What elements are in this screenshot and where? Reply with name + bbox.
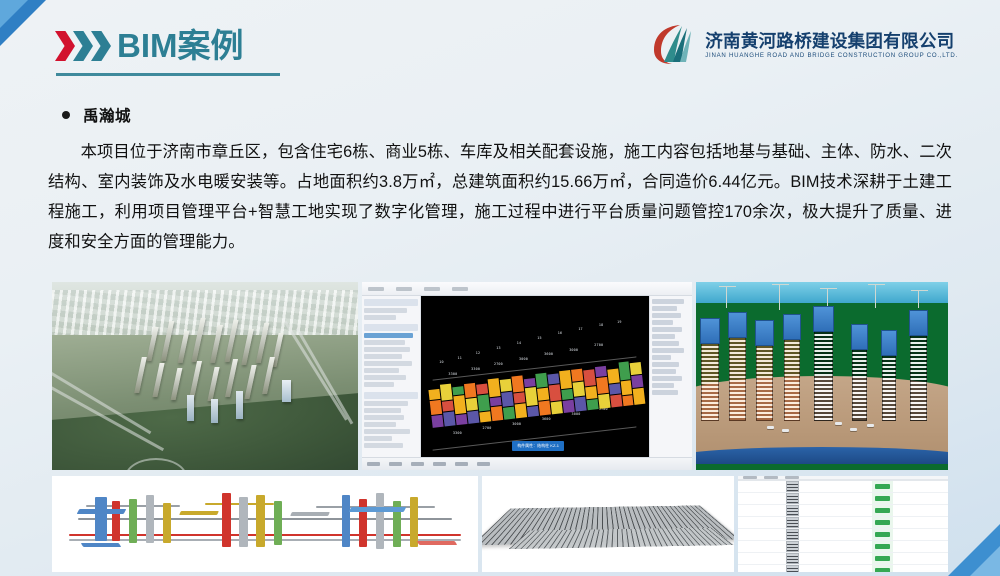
gallery-row-bottom: [52, 476, 948, 572]
bim-3d-viewport[interactable]: 10 11 12 13 14 15 16 17 18 19 3300 3300 …: [421, 296, 649, 457]
aerial-rendering-image: [52, 282, 358, 470]
status-badge: [875, 556, 890, 561]
table-row[interactable]: [738, 553, 948, 565]
bim-right-panel[interactable]: [649, 296, 692, 457]
project-description-paragraph: 本项目位于济南市章丘区，包含住宅6栋、商业5栋、车库及相关配套设施，施工内容包括…: [48, 137, 952, 257]
page-title: BIM案例: [117, 26, 244, 66]
table-body: [738, 481, 948, 572]
table-row[interactable]: [738, 505, 948, 517]
table-row[interactable]: [738, 493, 948, 505]
chevron-group-icon: [55, 31, 111, 61]
project-name-heading: 禹瀚城: [83, 104, 131, 126]
quality-management-table-image: [738, 476, 948, 572]
mep-piping-model-image: [52, 476, 478, 572]
chevron-teal-1-icon: [73, 31, 93, 61]
status-badge: [875, 520, 890, 525]
toolbar-item-3[interactable]: [785, 476, 799, 479]
toolbar-item-2[interactable]: [764, 476, 778, 479]
status-badge: [875, 508, 890, 513]
ribbon-tab-model[interactable]: [424, 287, 440, 291]
chevron-red-icon: [55, 31, 75, 61]
slab-formwork-model-image: [482, 476, 734, 572]
title-underline: [56, 73, 280, 76]
status-badge: [875, 568, 890, 572]
corner-decoration-bottom-right-inner: [970, 546, 1000, 576]
toolbar-item-1[interactable]: [743, 476, 757, 479]
slide-content: 禹瀚城 本项目位于济南市章丘区，包含住宅6栋、商业5栋、车库及相关配套设施，施工…: [0, 104, 1000, 257]
presentation-slide: BIM案例 济南黄河路桥建设集团有限公司 JINAN HUANGHE ROAD …: [0, 0, 1000, 576]
table-row[interactable]: [738, 517, 948, 529]
bim-software-screenshot: 10 11 12 13 14 15 16 17 18 19 3300 3300 …: [362, 282, 692, 470]
table-row[interactable]: [738, 541, 948, 553]
ribbon-tab-file[interactable]: [368, 287, 384, 291]
status-badge: [875, 496, 890, 501]
bim-tower-model-image: [696, 282, 948, 470]
company-name-en: JINAN HUANGHE ROAD AND BRIDGE CONSTRUCTI…: [705, 52, 958, 60]
bim-ribbon-toolbar[interactable]: [362, 282, 692, 296]
ribbon-tab-view[interactable]: [396, 287, 412, 291]
chevron-teal-2-icon: [91, 31, 111, 61]
bim-element-tooltip: 构件属性：结构柱 KZ-1: [512, 441, 564, 451]
logo-text-block: 济南黄河路桥建设集团有限公司 JINAN HUANGHE ROAD AND BR…: [705, 31, 958, 60]
logo-mark-icon: [650, 24, 696, 66]
status-badge: [875, 484, 890, 489]
table-row[interactable]: [738, 529, 948, 541]
gallery-row-top: 10 11 12 13 14 15 16 17 18 19 3300 3300 …: [52, 282, 948, 470]
slide-header: BIM案例 济南黄河路桥建设集团有限公司 JINAN HUANGHE ROAD …: [0, 0, 1000, 92]
bullet-heading-row: 禹瀚城: [62, 104, 1000, 126]
bullet-dot-icon: [62, 111, 70, 119]
company-logo: 济南黄河路桥建设集团有限公司 JINAN HUANGHE ROAD AND BR…: [650, 24, 958, 66]
bim-left-panel[interactable]: [362, 296, 421, 457]
status-badge: [875, 532, 890, 537]
table-row[interactable]: [738, 481, 948, 493]
ribbon-tab-collab[interactable]: [452, 287, 468, 291]
status-badge: [875, 544, 890, 549]
table-row[interactable]: [738, 565, 948, 572]
bim-status-bar: [362, 457, 692, 470]
company-name-cn: 济南黄河路桥建设集团有限公司: [705, 31, 958, 51]
